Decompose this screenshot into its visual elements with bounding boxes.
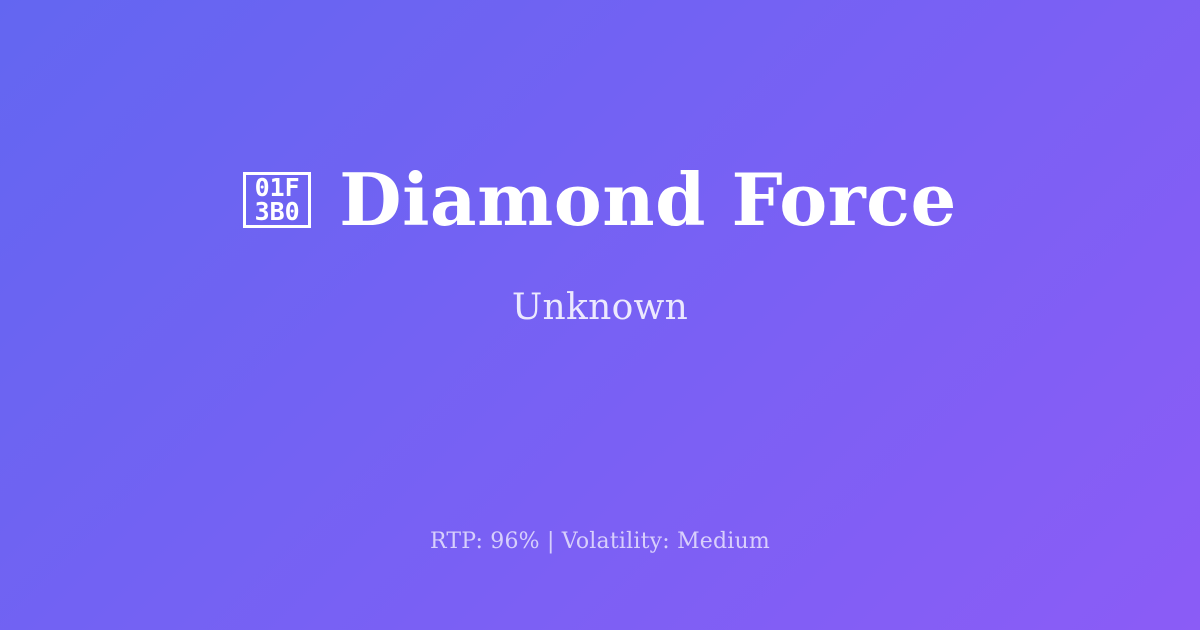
slot-machine-icon: 01F 3B0 <box>243 172 311 228</box>
card-subtitle: Unknown <box>512 287 688 329</box>
page-title: Diamond Force <box>339 161 957 239</box>
card-footer: RTP: 96% | Volatility: Medium <box>0 528 1200 556</box>
title-row: 01F 3B0 Diamond Force <box>243 161 957 239</box>
card-main-content: 01F 3B0 Diamond Force Unknown <box>0 0 1200 490</box>
tofu-codepoint-lower: 3B0 <box>255 200 300 224</box>
game-stats-meta: RTP: 96% | Volatility: Medium <box>430 529 770 554</box>
og-preview-card: 01F 3B0 Diamond Force Unknown RTP: 96% |… <box>0 0 1200 630</box>
